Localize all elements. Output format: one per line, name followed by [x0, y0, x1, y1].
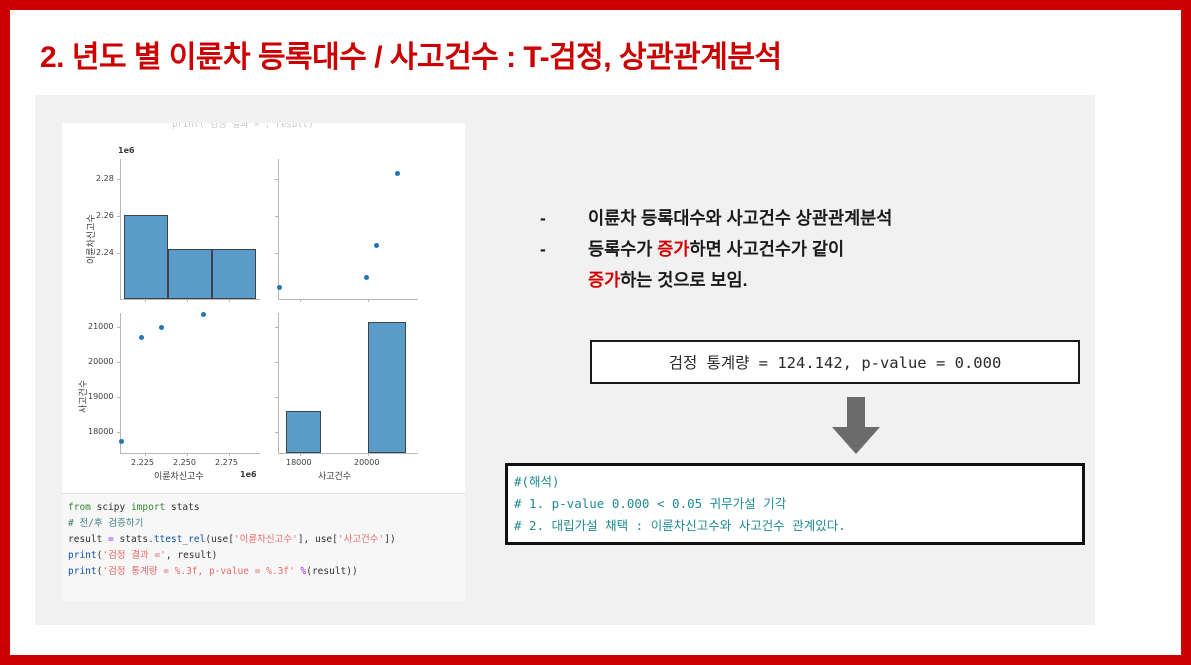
result-box: 검정 통계량 = 124.142, p-value = 0.000 [590, 340, 1080, 384]
ytick [275, 216, 278, 217]
notebook-cut-text-row: print('검정 결과 =', result) [62, 123, 465, 135]
interpretation-line: #(해석) [514, 471, 1082, 493]
panel-top-right-yaxis [278, 159, 279, 299]
xtick [187, 453, 188, 456]
panel-bottom-left: 21000 20000 19000 18000 2.225 2.250 2.27… [120, 313, 260, 453]
panel-top-left-yticklabel: 2.26 [96, 211, 114, 220]
xtick [368, 299, 369, 302]
scatter-point [364, 275, 369, 280]
notebook-cut-text: print('검정 결과 =', result) [172, 123, 314, 130]
scatter-point [277, 285, 282, 290]
ytick [117, 216, 120, 217]
xtick [187, 299, 188, 302]
scatter-matrix-figure: 1e6 2.28 2.26 2.24 이륜차신고수 [62, 135, 465, 490]
xtick [300, 299, 301, 302]
result-text: 검정 통계량 = 124.142, p-value = 0.000 [669, 351, 1002, 373]
content-panel: print('검정 결과 =', result) 1e6 2.28 2.26 2… [35, 95, 1095, 625]
ytick [275, 179, 278, 180]
interpretation-line: # 1. p-value 0.000 < 0.05 귀무가설 기각 [514, 493, 1082, 515]
panel-bottom-right-xticklabel: 18000 [286, 458, 311, 467]
panel-top-left-yticklabel: 2.24 [96, 248, 114, 257]
histogram-bar [368, 322, 406, 453]
histogram-bar [212, 249, 256, 299]
histogram-bar [124, 215, 168, 299]
xtick [229, 453, 230, 456]
code-line: print('검정 결과 =', result) [68, 548, 465, 564]
ytick [117, 327, 120, 328]
histogram-bar [286, 411, 321, 453]
scatter-point [395, 171, 400, 176]
panel-top-right-xaxis [278, 299, 418, 300]
panel-top-left-yaxis [120, 159, 121, 299]
ytick [117, 432, 120, 433]
panel-top-left-ylabel: 이륜차신고수 [84, 214, 97, 264]
ytick [117, 253, 120, 254]
down-arrow-icon [830, 397, 882, 455]
panel-bottom-right-yaxis [278, 313, 279, 453]
ytick [117, 397, 120, 398]
xtick [145, 453, 146, 456]
ytick [275, 327, 278, 328]
panel-bottom-left-yticklabel: 21000 [88, 322, 113, 331]
panel-bottom-left-yticklabel: 19000 [88, 392, 113, 401]
list-item: - 이륜차 등록대수와 사고건수 상관관계분석 [540, 203, 1085, 234]
interpretation-box: #(해석) # 1. p-value 0.000 < 0.05 귀무가설 기각 … [505, 463, 1085, 545]
xtick [368, 453, 369, 456]
ytick [275, 362, 278, 363]
code-line: from scipy import stats [68, 500, 465, 516]
bullet-list: - 이륜차 등록대수와 사고건수 상관관계분석 - 등록수가 증가하면 사고건수… [540, 203, 1085, 296]
panel-bottom-right-xaxis [278, 453, 418, 454]
notebook-screenshot: print('검정 결과 =', result) 1e6 2.28 2.26 2… [62, 123, 465, 601]
list-item: - 등록수가 증가하면 사고건수가 같이 [540, 234, 1085, 265]
panel-top-left-xaxis [120, 299, 260, 300]
xtick [300, 453, 301, 456]
ytick [117, 179, 120, 180]
xtick [229, 299, 230, 302]
code-line: result = stats.ttest_rel(use['이륜차신고수'], … [68, 532, 465, 548]
panel-top-left-yticklabel: 2.28 [96, 174, 114, 183]
interpretation-line: # 2. 대립가설 채택 : 이륜차신고수와 사고건수 관계있다. [514, 515, 1082, 537]
ytick [275, 432, 278, 433]
bullet-highlight: 증가 [657, 239, 689, 259]
ytick [117, 362, 120, 363]
bullet-dash: - [540, 203, 588, 234]
code-cell[interactable]: from scipy import stats # 전/후 검증하기 resul… [62, 493, 465, 601]
scatter-point [119, 439, 124, 444]
panel-bottom-left-xticklabel: 2.250 [173, 458, 196, 467]
panel-top-left-y-offset: 1e6 [118, 146, 135, 155]
panel-bottom-left-yticklabel: 20000 [88, 357, 113, 366]
scatter-point [159, 325, 164, 330]
scatter-point [201, 312, 206, 317]
panel-bottom-left-xticklabel: 2.225 [131, 458, 154, 467]
scatter-point [374, 243, 379, 248]
panel-bottom-left-xlabel: 이륜차신고수 [154, 469, 204, 482]
ytick [275, 253, 278, 254]
bullet-dash: - [540, 234, 588, 265]
bullet-text: 하는 것으로 보임. [620, 270, 747, 290]
bullet-text: 하면 사고건수가 같이 [689, 239, 844, 259]
histogram-bar [168, 249, 212, 299]
slide-frame: 2. 년도 별 이륜차 등록대수 / 사고건수 : T-검정, 상관관계분석 p… [10, 10, 1181, 655]
list-item-continuation: 증가하는 것으로 보임. [588, 265, 1085, 296]
panel-bottom-left-ylabel: 사고건수 [76, 380, 89, 413]
panel-bottom-left-yaxis [120, 313, 121, 453]
code-line: print('검정 통계량 = %.3f, p-value = %.3f' %(… [68, 564, 465, 580]
panel-bottom-right: 18000 20000 사고건수 [278, 313, 418, 453]
panel-bottom-left-xticklabel: 2.275 [215, 458, 238, 467]
panel-top-left: 1e6 2.28 2.26 2.24 이륜차신고수 [120, 159, 260, 299]
bullet-highlight: 증가 [588, 270, 620, 290]
bullet-text: 이륜차 등록대수와 사고건수 상관관계분석 [588, 203, 892, 234]
panel-bottom-right-xlabel: 사고건수 [318, 469, 351, 482]
panel-top-right [278, 159, 418, 299]
scatter-point [139, 335, 144, 340]
panel-bottom-left-xaxis [120, 453, 260, 454]
ytick [275, 397, 278, 398]
bullet-text: 등록수가 [588, 239, 657, 259]
panel-bottom-left-yticklabel: 18000 [88, 427, 113, 436]
page-title: 2. 년도 별 이륜차 등록대수 / 사고건수 : T-검정, 상관관계분석 [40, 34, 1140, 82]
panel-bottom-left-x-offset: 1e6 [240, 470, 257, 479]
code-line: # 전/후 검증하기 [68, 516, 465, 532]
panel-bottom-right-xticklabel: 20000 [354, 458, 379, 467]
xtick [145, 299, 146, 302]
